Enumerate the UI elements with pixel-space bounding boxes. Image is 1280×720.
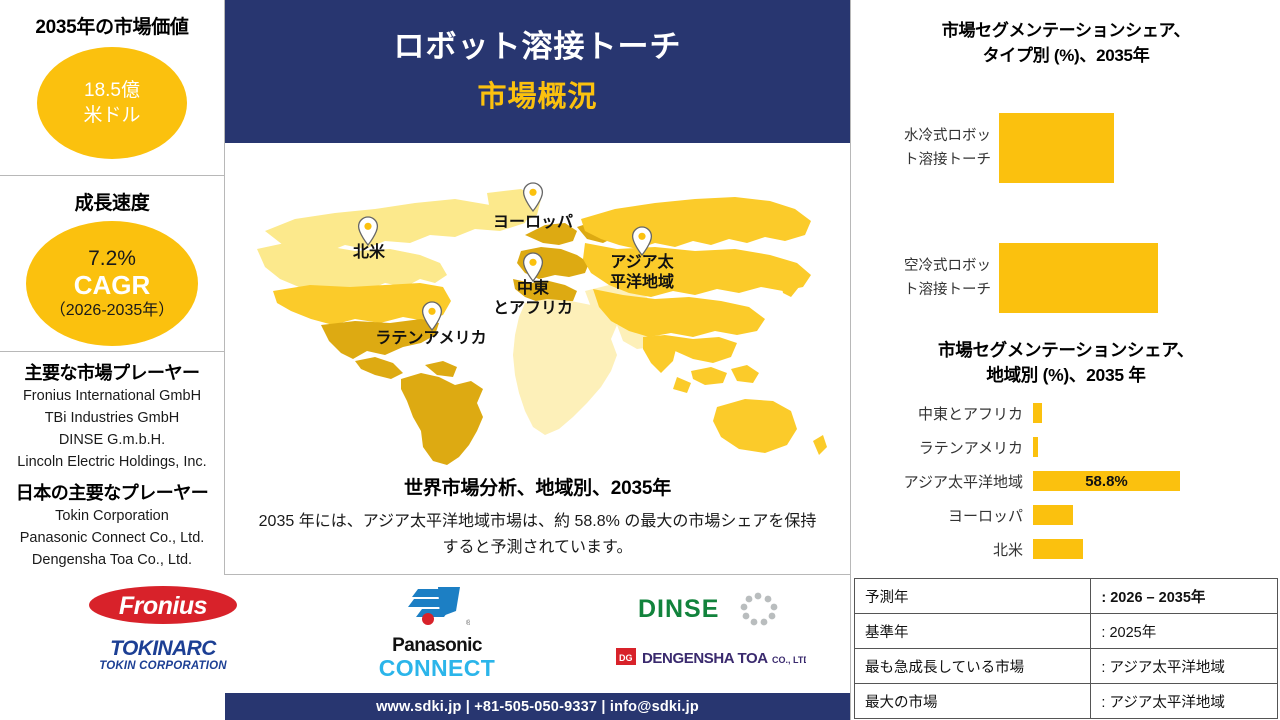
type-segmentation-chart: 水冷式ロボット溶接トーチ 空冷式ロボット溶接トーチ — [851, 100, 1280, 320]
tokinarc-logo-subtext: TOKIN CORPORATION — [90, 660, 236, 672]
map-pin-middle-east-africa[interactable] — [522, 252, 544, 282]
market-value-ellipse: 18.5億 米ドル — [37, 47, 187, 159]
cagr-value: 7.2% — [88, 246, 136, 271]
list-item: Lincoln Electric Holdings, Inc. — [17, 451, 206, 473]
table-row: ラテンアメリカ — [851, 432, 1280, 462]
map-footer-text: 2035 年には、アジア太平洋地域市場は、約 58.8% の最大の市場シェアを保… — [253, 509, 822, 561]
market-value-card: 2035年の市場価値 18.5億 米ドル — [0, 0, 224, 176]
region-bar-label: 中東とアフリカ — [851, 403, 1033, 424]
infographic-page: 2035年の市場価値 18.5億 米ドル 成長速度 7.2% CAGR （202… — [0, 0, 1280, 720]
summary-table: 予測年 : 2026 – 2035年 基準年 : 2025年 最も急成長している… — [854, 578, 1278, 719]
map-label-asia-pacific-line2: 平洋地域 — [594, 273, 690, 293]
page-subtitle: 市場概況 — [477, 75, 597, 119]
page-header: ロボット溶接トーチ 市場概況 — [225, 0, 850, 143]
tokinarc-logo-text: TOKINARC — [90, 637, 236, 660]
table-cell-value: : 2025年 — [1091, 614, 1278, 649]
contact-footer: www.sdki.jp | +81-505-050-9337 | info@sd… — [225, 693, 850, 720]
table-row: 中東とアフリカ — [851, 398, 1280, 428]
region-bar-label: ヨーロッパ — [851, 505, 1033, 526]
svg-text:®: ® — [466, 619, 470, 627]
tbi-logo: ® — [404, 583, 470, 634]
type-bar-water-cooled — [999, 113, 1114, 183]
map-pin-north-america[interactable] — [357, 216, 379, 246]
panasonic-connect-logo: Panasonic CONNECT — [352, 635, 522, 681]
dinse-logo: DINSE — [636, 589, 786, 634]
svg-text:CO., LTD.: CO., LTD. — [772, 655, 806, 665]
table-cell-key: 最も急成長している市場 — [855, 649, 1091, 684]
region-bar-label: 北米 — [851, 539, 1033, 560]
panasonic-logo-text: Panasonic — [352, 635, 522, 656]
map-pin-europe[interactable] — [522, 182, 544, 212]
dengensha-toa-logo: DG DENGENSHA TOA CO., LTD. — [616, 645, 806, 674]
table-row: 北米 — [851, 534, 1280, 564]
type-bar-label: 空冷式ロボット溶接トーチ — [859, 254, 999, 302]
region-bar-europe — [1033, 505, 1073, 525]
table-cell-value: : アジア太平洋地域 — [1091, 649, 1278, 684]
cagr-period: （2026-2035年） — [50, 300, 175, 322]
region-bar-label: ラテンアメリカ — [851, 437, 1033, 458]
key-players-heading: 主要な市場プレーヤー — [25, 359, 200, 385]
svg-text:DENGENSHA TOA: DENGENSHA TOA — [642, 650, 768, 667]
region-bar-north-america — [1033, 539, 1083, 559]
fronius-logo: Fronius — [88, 583, 238, 632]
market-value-heading: 2035年の市場価値 — [35, 12, 188, 39]
table-row: 最大の市場 : アジア太平洋地域 — [855, 684, 1278, 719]
cagr-label: CAGR — [74, 271, 151, 300]
key-players-card: 主要な市場プレーヤー Fronius International GmbH TB… — [0, 352, 224, 575]
page-title: ロボット溶接トーチ — [394, 25, 682, 69]
region-segmentation-chart: 中東とアフリカ ラテンアメリカ アジア太平洋地域 58.8% ヨーロッパ 北米 — [851, 335, 1280, 570]
japan-players-heading: 日本の主要なプレーヤー — [16, 479, 209, 505]
table-cell-key: 基準年 — [855, 614, 1091, 649]
list-item: DINSE G.m.b.H. — [59, 429, 165, 451]
map-label-asia-pacific-line1: アジア太 — [594, 253, 690, 273]
table-cell-key: 最大の市場 — [855, 684, 1091, 719]
world-map-panel: 北米 ヨーロッパ 中東 とアフリカ アジア太 平洋地域 ラテンアメリカ 世界市場… — [225, 143, 850, 575]
fronius-logo-mark: Fronius — [88, 583, 238, 627]
table-cell-key: 予測年 — [855, 579, 1091, 614]
list-item: Panasonic Connect Co., Ltd. — [20, 527, 205, 549]
region-bar-label: アジア太平洋地域 — [851, 471, 1033, 492]
svg-text:Fronius: Fronius — [119, 592, 208, 620]
table-row: アジア太平洋地域 58.8% — [851, 466, 1280, 496]
growth-rate-heading: 成長速度 — [75, 188, 150, 215]
map-label-latin-america: ラテンアメリカ — [349, 329, 513, 349]
dinse-logo-mark: DINSE — [636, 589, 786, 629]
table-cell-value: : 2026 – 2035年 — [1091, 579, 1278, 614]
svg-text:DINSE: DINSE — [638, 595, 719, 623]
type-chart-title: 市場セグメンテーションシェア、 タイプ別 (%)、2035年 — [851, 18, 1280, 68]
table-row: 基準年 : 2025年 — [855, 614, 1278, 649]
list-item: Fronius International GmbH — [23, 385, 201, 407]
tokinarc-logo: TOKINARC TOKIN CORPORATION — [90, 637, 236, 672]
svg-text:DG: DG — [619, 653, 633, 663]
map-pin-latin-america[interactable] — [421, 301, 443, 331]
type-chart-title-line2: タイプ別 (%)、2035年 — [851, 43, 1280, 68]
table-row: 最も急成長している市場 : アジア太平洋地域 — [855, 649, 1278, 684]
table-row: ヨーロッパ — [851, 500, 1280, 530]
map-region-latin-america — [401, 361, 483, 465]
map-label-middle-east-africa-line2: とアフリカ — [478, 299, 588, 319]
contact-text: www.sdki.jp | +81-505-050-9337 | info@sd… — [376, 699, 699, 715]
dengensha-toa-logo-mark: DG DENGENSHA TOA CO., LTD. — [616, 645, 806, 669]
region-bar-latin-america — [1033, 437, 1038, 457]
left-sidebar: 2035年の市場価値 18.5億 米ドル 成長速度 7.2% CAGR （202… — [0, 0, 225, 575]
market-value-currency: 米ドル — [83, 103, 140, 128]
growth-rate-ellipse: 7.2% CAGR （2026-2035年） — [26, 221, 198, 346]
map-footer-title: 世界市場分析、地域別、2035年 — [225, 473, 850, 500]
type-bar-label: 水冷式ロボット溶接トーチ — [859, 124, 999, 172]
right-sidebar: 市場セグメンテーションシェア、 タイプ別 (%)、2035年 水冷式ロボット溶接… — [850, 0, 1280, 720]
map-label-europe: ヨーロッパ — [473, 213, 593, 233]
list-item: Dengensha Toa Co., Ltd. — [32, 549, 192, 571]
list-item: Tokin Corporation — [55, 505, 169, 527]
market-value-amount: 18.5億 — [84, 78, 140, 103]
world-map: 北米 ヨーロッパ 中東 とアフリカ アジア太 平洋地域 ラテンアメリカ — [225, 179, 850, 469]
map-label-north-america: 北米 — [341, 243, 397, 263]
tbi-logo-mark: ® — [404, 583, 470, 629]
company-logos: Fronius TOKINARC TOKIN CORPORATION ® Pan… — [0, 575, 850, 693]
growth-rate-card: 成長速度 7.2% CAGR （2026-2035年） — [0, 176, 224, 352]
region-bar-middle-east-africa — [1033, 403, 1042, 423]
list-item: TBi Industries GmbH — [45, 407, 180, 429]
table-cell-value: : アジア太平洋地域 — [1091, 684, 1278, 719]
map-label-middle-east-africa-line1: 中東 — [490, 279, 576, 299]
region-bar-asia-pacific: 58.8% — [1033, 471, 1180, 491]
type-bar-row: 空冷式ロボット溶接トーチ — [859, 243, 1279, 313]
region-bar-value: 58.8% — [1033, 471, 1180, 491]
type-bar-row: 水冷式ロボット溶接トーチ — [859, 113, 1279, 183]
connect-logo-text: CONNECT — [352, 656, 522, 681]
table-row: 予測年 : 2026 – 2035年 — [855, 579, 1278, 614]
map-pin-asia-pacific[interactable] — [631, 226, 653, 256]
type-bar-air-cooled — [999, 243, 1158, 313]
map-footer: 世界市場分析、地域別、2035年 2035 年には、アジア太平洋地域市場は、約 … — [225, 473, 850, 561]
type-chart-title-line1: 市場セグメンテーションシェア、 — [851, 18, 1280, 43]
